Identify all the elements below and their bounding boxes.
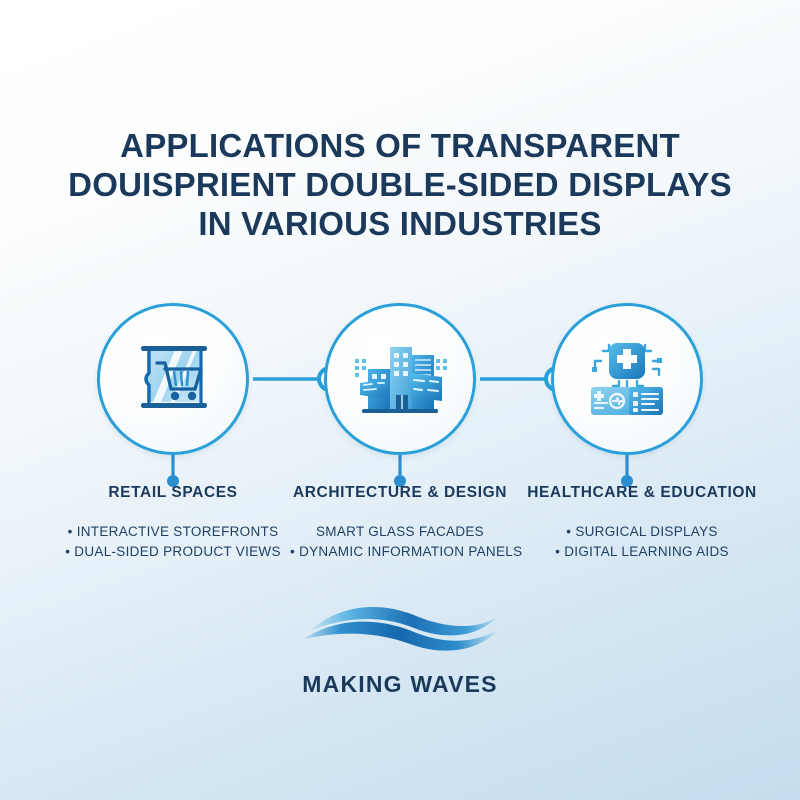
data-dots-right (436, 359, 447, 370)
brand-logo: MAKING WAVES (0, 596, 800, 698)
cart-wheel-right (188, 392, 196, 400)
cart-wheel-left (171, 392, 179, 400)
title-line-2: DOUISPRIENT DOUBLE-SIDED DISPLAYS (0, 165, 800, 204)
medical-cross-record-icon (554, 306, 700, 452)
facade-panel-left (360, 379, 388, 399)
facade-panel-right (410, 373, 442, 401)
buildings-display-panels-icon (327, 306, 473, 452)
list-item: • SURGICAL DISPLAYS (512, 522, 772, 542)
label-column-architecture: ARCHITECTURE & DESIGN SMART GLASS FACADE… (290, 484, 510, 562)
infographic-canvas: APPLICATIONS OF TRANSPARENT DOUISPRIENT … (0, 0, 800, 800)
column-title-retail: RETAIL SPACES (43, 484, 303, 502)
list-item: • INTERACTIVE STOREFRONTS (43, 522, 303, 542)
node-circle-healthcare[interactable] (551, 303, 703, 455)
column-title-healthcare: HEALTHCARE & EDUCATION (512, 484, 772, 502)
column-title-architecture: ARCHITECTURE & DESIGN (290, 484, 510, 502)
node-circle-retail[interactable] (97, 303, 249, 455)
list-item: • DUAL-SIDED PRODUCT VIEWS (43, 542, 303, 562)
column-items-healthcare: • SURGICAL DISPLAYS • DIGITAL LEARNING A… (512, 522, 772, 562)
data-dots-left (355, 359, 366, 377)
list-item: SMART GLASS FACADES (290, 522, 510, 542)
column-items-architecture: SMART GLASS FACADES • DYNAMIC INFORMATIO… (290, 522, 510, 562)
wave-swoosh-logo (290, 596, 510, 662)
title-line-1: APPLICATIONS OF TRANSPARENT (0, 126, 800, 165)
node-circle-architecture[interactable] (324, 303, 476, 455)
list-item: • DYNAMIC INFORMATION PANELS (290, 542, 510, 562)
storefront-shopping-cart-icon (100, 306, 246, 452)
list-item: • DIGITAL LEARNING AIDS (512, 542, 772, 562)
title-line-3: IN VARIOUS INDUSTRIES (0, 204, 800, 243)
label-column-retail: RETAIL SPACES • INTERACTIVE STOREFRONTS … (43, 484, 303, 562)
page-title: APPLICATIONS OF TRANSPARENT DOUISPRIENT … (0, 126, 800, 243)
label-column-healthcare: HEALTHCARE & EDUCATION • SURGICAL DISPLA… (512, 484, 772, 562)
logo-text: MAKING WAVES (0, 671, 800, 698)
column-items-retail: • INTERACTIVE STOREFRONTS • DUAL-SIDED P… (43, 522, 303, 562)
